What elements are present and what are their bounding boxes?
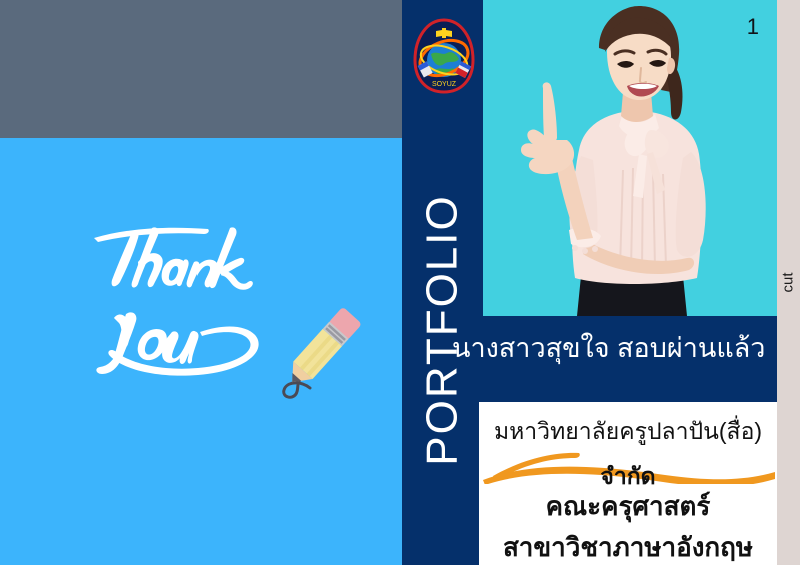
cut-label: cut	[780, 272, 797, 292]
cut-strip: cut	[777, 0, 800, 565]
portfolio-slide: SOYUZ PORTFOLIO	[0, 0, 800, 565]
mission-patch-logo: SOYUZ	[409, 16, 479, 98]
faculty-name: คณะครุศาสตร์	[479, 486, 777, 527]
profile-photo: 1	[483, 0, 777, 316]
page-number: 1	[747, 14, 759, 40]
major-name: สาขาวิชาภาษาอังกฤษ	[479, 527, 777, 565]
student-caption: นางสาวสุขใจ สอบผ่านแล้ว	[452, 334, 782, 364]
institution-info-box: มหาวิทยาลัยครูปลาปัน(สื่อ) จำกัด คณะครุศ…	[479, 402, 777, 565]
portfolio-title-text: PORTFOLIO	[418, 194, 468, 465]
logo-bottom-text: SOYUZ	[432, 81, 457, 88]
institution-name: มหาวิทยาลัยครูปลาปัน(สื่อ)	[479, 414, 777, 450]
pencil-icon	[276, 296, 370, 400]
gray-header-panel	[0, 0, 402, 138]
portfolio-vertical-title: PORTFOLIO	[402, 180, 483, 480]
